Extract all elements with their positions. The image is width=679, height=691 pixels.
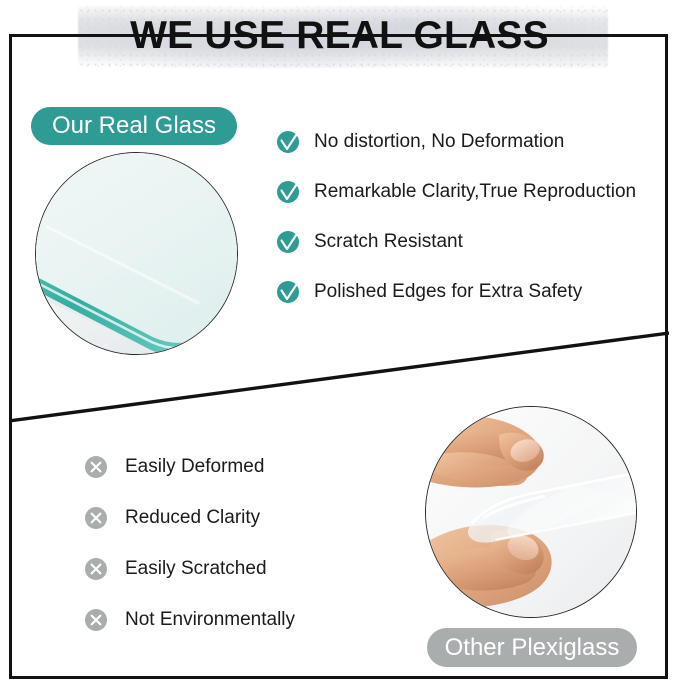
list-item: No distortion, No Deformation — [276, 130, 636, 154]
list-item: Polished Edges for Extra Safety — [276, 280, 636, 304]
badge-other-plexiglass-label: Other Plexiglass — [445, 634, 620, 662]
list-item-label: No distortion, No Deformation — [314, 131, 564, 153]
list-item: Not Environmentally — [84, 608, 295, 632]
list-item-label: Easily Scratched — [125, 558, 267, 580]
list-item: Easily Scratched — [84, 557, 295, 581]
page-title: WE USE REAL GLASS — [0, 14, 679, 58]
check-circle-icon — [276, 280, 300, 304]
check-circle-icon — [276, 180, 300, 204]
list-item-label: Reduced Clarity — [125, 507, 260, 529]
plexiglass-photo — [425, 406, 637, 618]
list-item: Remarkable Clarity,True Reproduction — [276, 180, 636, 204]
list-item-label: Remarkable Clarity,True Reproduction — [314, 181, 636, 203]
list-item-label: Easily Deformed — [125, 456, 264, 478]
check-circle-icon — [276, 230, 300, 254]
check-circle-icon — [276, 130, 300, 154]
list-item-label: Scratch Resistant — [314, 231, 463, 253]
list-item: Easily Deformed — [84, 455, 295, 479]
product-comparison-infographic: WE USE REAL GLASS Our Real Glass — [0, 0, 679, 691]
badge-our-real-glass-label: Our Real Glass — [52, 112, 216, 140]
real-glass-photo — [35, 152, 238, 355]
x-circle-icon — [84, 557, 108, 581]
list-item: Reduced Clarity — [84, 506, 295, 530]
list-item-label: Not Environmentally — [125, 609, 295, 631]
badge-our-real-glass: Our Real Glass — [31, 107, 237, 145]
advantages-list: No distortion, No Deformation Remarkable… — [276, 130, 636, 330]
list-item-label: Polished Edges for Extra Safety — [314, 281, 582, 303]
badge-other-plexiglass: Other Plexiglass — [427, 628, 637, 667]
disadvantages-list: Easily Deformed Reduced Clarity Easily S… — [84, 455, 295, 659]
list-item: Scratch Resistant — [276, 230, 636, 254]
x-circle-icon — [84, 506, 108, 530]
x-circle-icon — [84, 608, 108, 632]
x-circle-icon — [84, 455, 108, 479]
